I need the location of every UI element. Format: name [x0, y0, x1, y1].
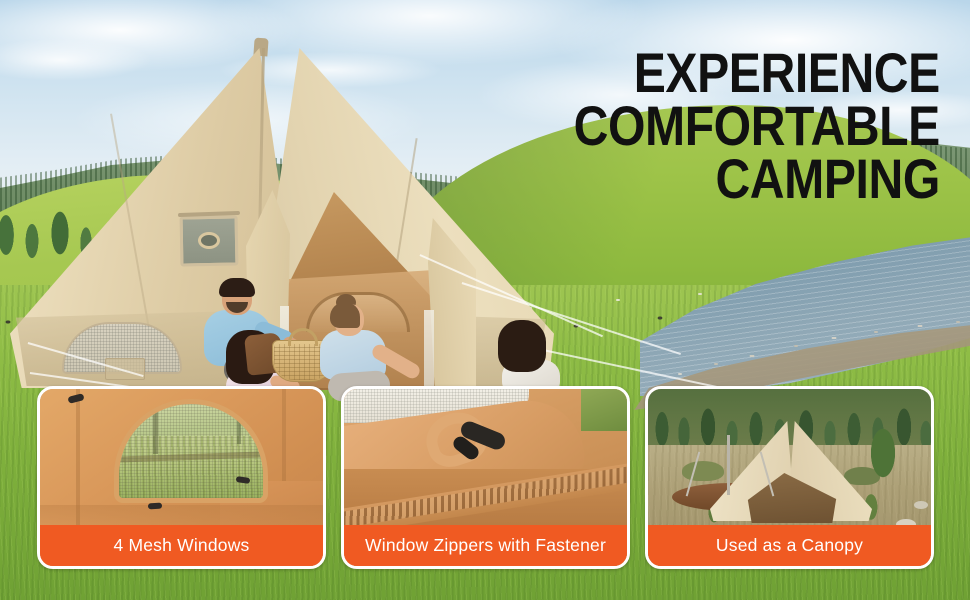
woman-hair [330, 302, 360, 328]
feature-card-row: 4 Mesh Windows Window Zippers with Faste… [37, 386, 935, 569]
mesh-screen-texture [119, 404, 263, 498]
background-grass [581, 389, 627, 431]
man-hair [219, 278, 255, 297]
girl-right-hair [498, 320, 546, 372]
feature-card-used-as-canopy[interactable]: Used as a Canopy [645, 386, 934, 569]
feature-card-label-window-zippers: Window Zippers with Fastener [344, 525, 627, 566]
feature-card-window-zippers[interactable]: Window Zippers with Fastener [341, 386, 630, 569]
headline-line-3: CAMPING [574, 152, 940, 205]
headline-line-2: COMFORTABLE [574, 99, 940, 152]
tent-vent-hole [198, 232, 220, 249]
feature-card-label-mesh-windows: 4 Mesh Windows [40, 525, 323, 566]
headline: EXPERIENCE COMFORTABLE CAMPING [514, 46, 940, 206]
center-pole [727, 435, 730, 495]
feature-card-label-used-as-canopy: Used as a Canopy [648, 525, 931, 566]
product-feature-banner: EXPERIENCE COMFORTABLE CAMPING [0, 0, 970, 600]
arched-mesh-window [114, 399, 268, 503]
rock [914, 501, 928, 509]
feature-card-mesh-windows[interactable]: 4 Mesh Windows [37, 386, 326, 569]
zipper-pull-icon [148, 503, 162, 510]
headline-line-1: EXPERIENCE [574, 46, 940, 99]
bell-tent-canopy [710, 421, 872, 533]
